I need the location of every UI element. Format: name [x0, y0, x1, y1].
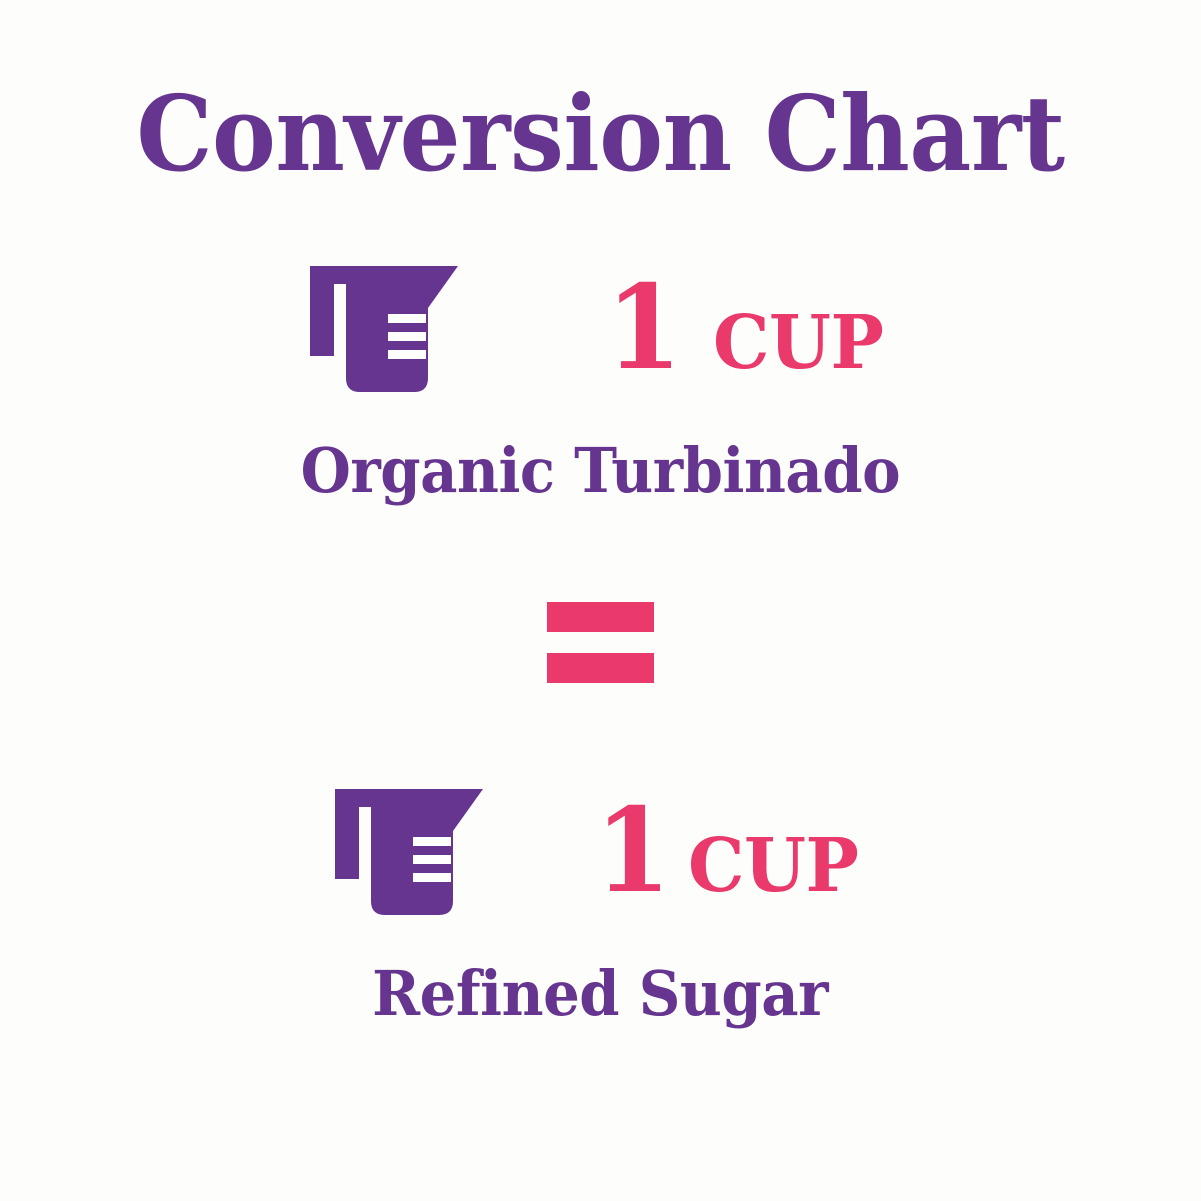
- quantity-unit-bottom: CUP: [688, 829, 858, 903]
- ingredient-label-bottom: Refined Sugar: [373, 963, 829, 1025]
- conversion-row-organic-turbinado: 1 CUP Organic Turbinado: [0, 262, 1201, 502]
- measuring-cup-icon: [335, 785, 483, 917]
- title-container: Conversion Chart: [0, 82, 1201, 186]
- quantity-bottom: 1 CUP: [595, 793, 865, 909]
- amount-line-bottom: 1 CUP: [335, 785, 865, 917]
- measuring-cup-icon: [310, 262, 458, 394]
- conversion-chart-infographic: Conversion Chart 1 CUP Organi: [0, 0, 1201, 1201]
- quantity-unit-top: CUP: [713, 306, 883, 380]
- quantity-top: 1 CUP: [606, 270, 890, 386]
- quantity-number-top: 1: [606, 270, 682, 386]
- equals-bar-upper: [547, 602, 654, 632]
- page-title: Conversion Chart: [136, 82, 1064, 186]
- ingredient-label-top: Organic Turbinado: [301, 440, 901, 502]
- conversion-row-refined-sugar: 1 CUP Refined Sugar: [0, 785, 1201, 1025]
- equals-sign: [547, 602, 654, 683]
- quantity-number-bottom: 1: [595, 793, 671, 909]
- amount-line-top: 1 CUP: [310, 262, 890, 394]
- equals-bar-lower: [547, 653, 654, 683]
